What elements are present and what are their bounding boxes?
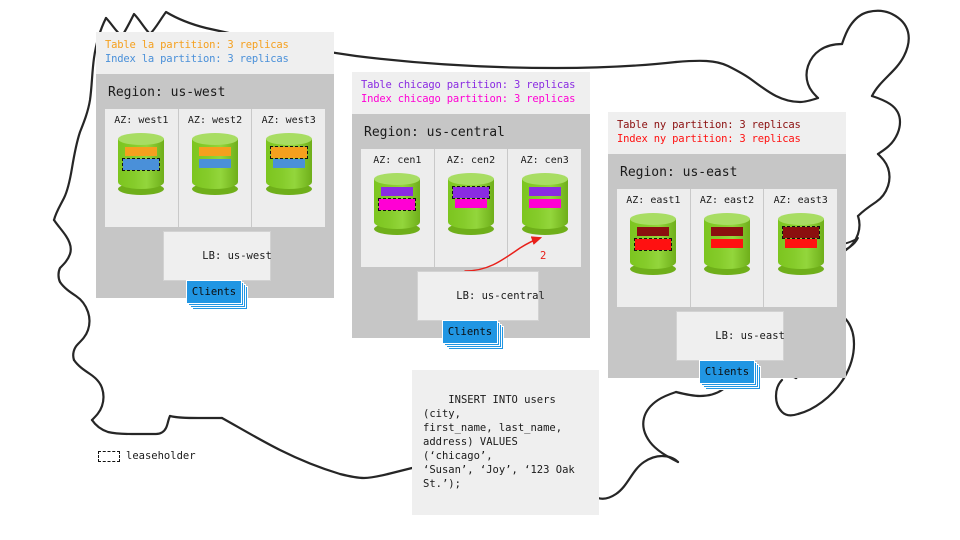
az-cell-east2[interactable]: AZ: east2 (690, 189, 764, 307)
partition-line-table: Table chicago partition: 3 replicas (361, 79, 581, 93)
replica-bar-index-leaseholder (379, 199, 415, 210)
lb-label: LB: us-west (202, 250, 272, 262)
replica-bar-index-leaseholder (123, 159, 159, 170)
partition-header-us-east: Table ny partition: 3 replicas Index ny … (608, 112, 846, 154)
replica-bars (778, 227, 824, 251)
az-cell-west1[interactable]: AZ: west1 (105, 109, 178, 227)
replica-bar-table (125, 147, 157, 156)
replica-bar-table (637, 227, 669, 236)
replica-bars (266, 147, 312, 171)
region-title: Region: us-west (105, 74, 325, 109)
az-cell-cen1[interactable]: AZ: cen1 (361, 149, 434, 267)
clients-front[interactable]: Clients (442, 320, 498, 344)
az-strip-us-west: AZ: west1 AZ: west2 (105, 109, 325, 227)
cylinder-top (448, 173, 494, 185)
replica-bar-index (529, 199, 561, 208)
cylinder-top (118, 133, 164, 145)
az-label: AZ: east2 (700, 195, 754, 206)
clients-us-east[interactable]: Clients (699, 360, 755, 384)
legend: leaseholder (98, 450, 196, 462)
database-cylinder-east2[interactable] (704, 213, 750, 275)
az-label: AZ: cen1 (373, 155, 421, 166)
clients-label: Clients (705, 366, 749, 378)
partition-header-us-west: Table la partition: 3 replicas Index la … (96, 32, 334, 74)
replica-bar-index (273, 159, 305, 168)
database-cylinder-cen1[interactable] (374, 173, 420, 235)
az-cell-west2[interactable]: AZ: west2 (178, 109, 252, 227)
replica-bar-table (711, 227, 743, 236)
az-label: AZ: west2 (188, 115, 242, 126)
partition-line-index: Index ny partition: 3 replicas (617, 133, 837, 147)
replica-bar-table (381, 187, 413, 196)
database-cylinder-east1[interactable] (630, 213, 676, 275)
cylinder-top (630, 213, 676, 225)
partition-line-table: Table ny partition: 3 replicas (617, 119, 837, 133)
lb-label: LB: us-east (715, 330, 785, 342)
partition-line-table: Table la partition: 3 replicas (105, 39, 325, 53)
cylinder-top (778, 213, 824, 225)
database-cylinder-west3[interactable] (266, 133, 312, 195)
az-label: AZ: west3 (262, 115, 316, 126)
replica-bar-table-leaseholder (271, 147, 307, 158)
clients-front[interactable]: Clients (699, 360, 755, 384)
load-balancer-us-east[interactable]: LB: us-east (676, 311, 784, 361)
cylinder-top (192, 133, 238, 145)
az-strip-us-east: AZ: east1 AZ: east2 (617, 189, 837, 307)
replica-bar-index (711, 239, 743, 248)
az-label: AZ: east1 (626, 195, 680, 206)
cylinder-top (266, 133, 312, 145)
clients-label: Clients (448, 326, 492, 338)
replica-bars (704, 227, 750, 251)
replica-bars (630, 227, 676, 251)
replica-bar-index (455, 199, 487, 208)
region-title: Region: us-east (617, 154, 837, 189)
az-cell-cen2[interactable]: AZ: cen2 (434, 149, 508, 267)
database-cylinder-west2[interactable] (192, 133, 238, 195)
replica-bar-table-leaseholder (783, 227, 819, 238)
replica-bar-index-leaseholder (635, 239, 671, 250)
replica-bars (522, 187, 568, 211)
lb-label: LB: us-central (456, 290, 545, 302)
database-cylinder-east3[interactable] (778, 213, 824, 275)
replica-bar-index (785, 239, 817, 248)
clients-label: Clients (192, 286, 236, 298)
clients-front[interactable]: Clients (186, 280, 242, 304)
database-cylinder-cen2[interactable] (448, 173, 494, 235)
legend-label: leaseholder (126, 450, 196, 462)
az-strip-us-central: AZ: cen1 AZ: cen2 (361, 149, 581, 267)
sql-statement-box: INSERT INTO users (city, first_name, las… (412, 370, 599, 515)
database-cylinder-west1[interactable] (118, 133, 164, 195)
replica-bar-table-leaseholder (453, 187, 489, 198)
cylinder-top (522, 173, 568, 185)
replica-bar-table (199, 147, 231, 156)
clients-us-central[interactable]: Clients (442, 320, 498, 344)
replica-bars (192, 147, 238, 171)
load-balancer-us-west[interactable]: LB: us-west (163, 231, 271, 281)
replica-bar-index (199, 159, 231, 168)
partition-line-index: Index la partition: 3 replicas (105, 53, 325, 67)
cylinder-top (374, 173, 420, 185)
arrow-step-number: 2 (540, 250, 546, 262)
az-label: AZ: west1 (114, 115, 168, 126)
replica-bars (374, 187, 420, 211)
cylinder-top (704, 213, 750, 225)
az-label: AZ: cen3 (521, 155, 569, 166)
az-label: AZ: east3 (774, 195, 828, 206)
az-label: AZ: cen2 (447, 155, 495, 166)
partition-line-index: Index chicago partition: 3 replicas (361, 93, 581, 107)
az-cell-east3[interactable]: AZ: east3 (763, 189, 837, 307)
replica-bar-table (529, 187, 561, 196)
partition-header-us-central: Table chicago partition: 3 replicas Inde… (352, 72, 590, 114)
az-cell-east1[interactable]: AZ: east1 (617, 189, 690, 307)
clients-us-west[interactable]: Clients (186, 280, 242, 304)
replica-bars (448, 187, 494, 211)
dashed-rect-icon (98, 451, 120, 462)
database-cylinder-cen3[interactable] (522, 173, 568, 235)
az-cell-west3[interactable]: AZ: west3 (251, 109, 325, 227)
replica-bars (118, 147, 164, 171)
diagram-canvas: Table la partition: 3 replicas Index la … (0, 0, 960, 540)
region-title: Region: us-central (361, 114, 581, 149)
sql-text: INSERT INTO users (city, first_name, las… (423, 394, 575, 490)
load-balancer-us-central[interactable]: LB: us-central (417, 271, 539, 321)
